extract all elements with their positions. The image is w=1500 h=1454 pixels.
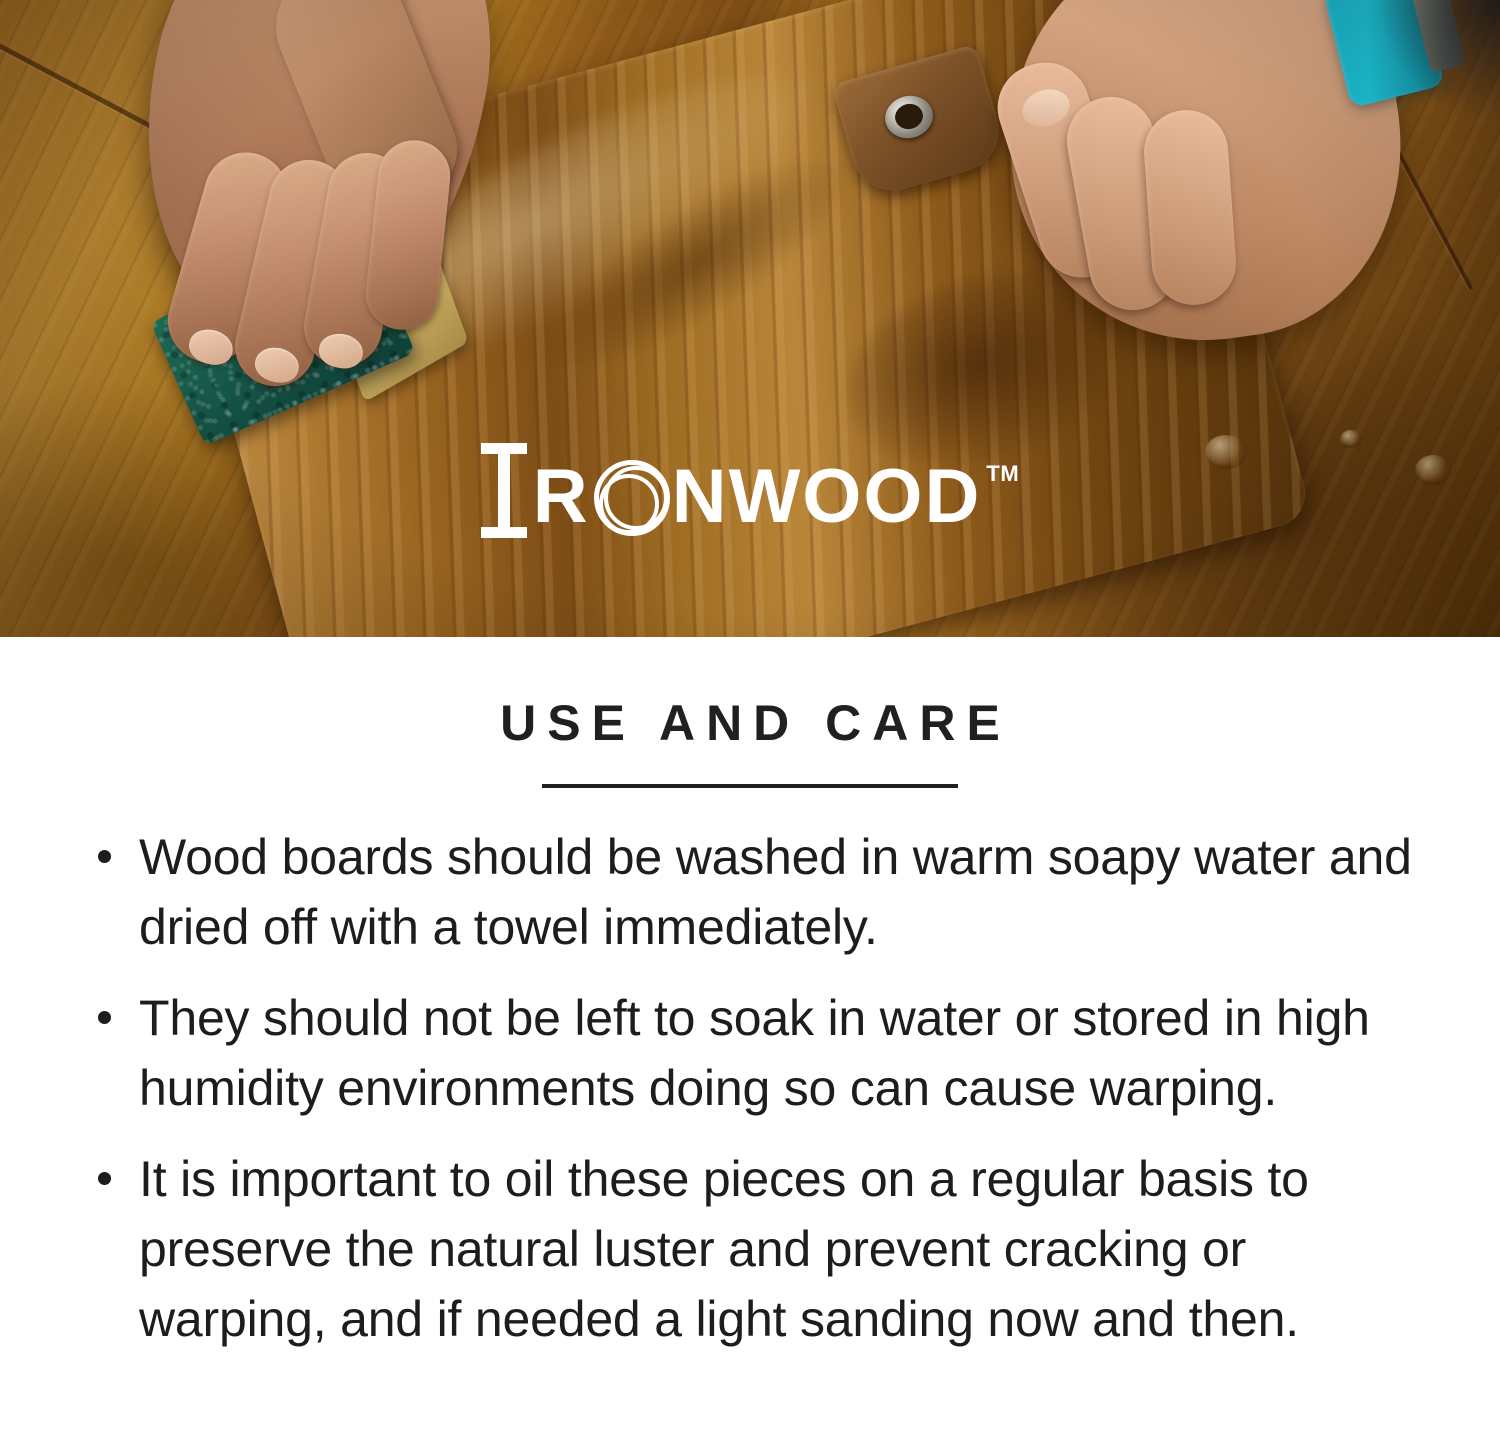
list-item: Wood boards should be washed in warm soa… bbox=[92, 822, 1440, 962]
water-droplet bbox=[1340, 430, 1362, 448]
list-item: They should not be left to soak in water… bbox=[92, 983, 1440, 1123]
use-and-care-content: USE AND CARE Wood boards should be washe… bbox=[0, 694, 1500, 1354]
water-droplet bbox=[1415, 455, 1451, 485]
use-and-care-page: R NWOOD TM USE AND CARE Wood boards shou… bbox=[0, 0, 1500, 1454]
list-item: It is important to oil these pieces on a… bbox=[92, 1144, 1440, 1354]
dark-corner-shadow bbox=[1380, 0, 1500, 120]
care-instructions-list: Wood boards should be washed in warm soa… bbox=[0, 822, 1500, 1354]
title-divider bbox=[542, 784, 958, 788]
hero-photo-banner: R NWOOD TM bbox=[0, 0, 1500, 637]
water-droplet bbox=[1205, 435, 1247, 469]
right-finger bbox=[1141, 107, 1238, 307]
page-title: USE AND CARE bbox=[0, 694, 1500, 752]
